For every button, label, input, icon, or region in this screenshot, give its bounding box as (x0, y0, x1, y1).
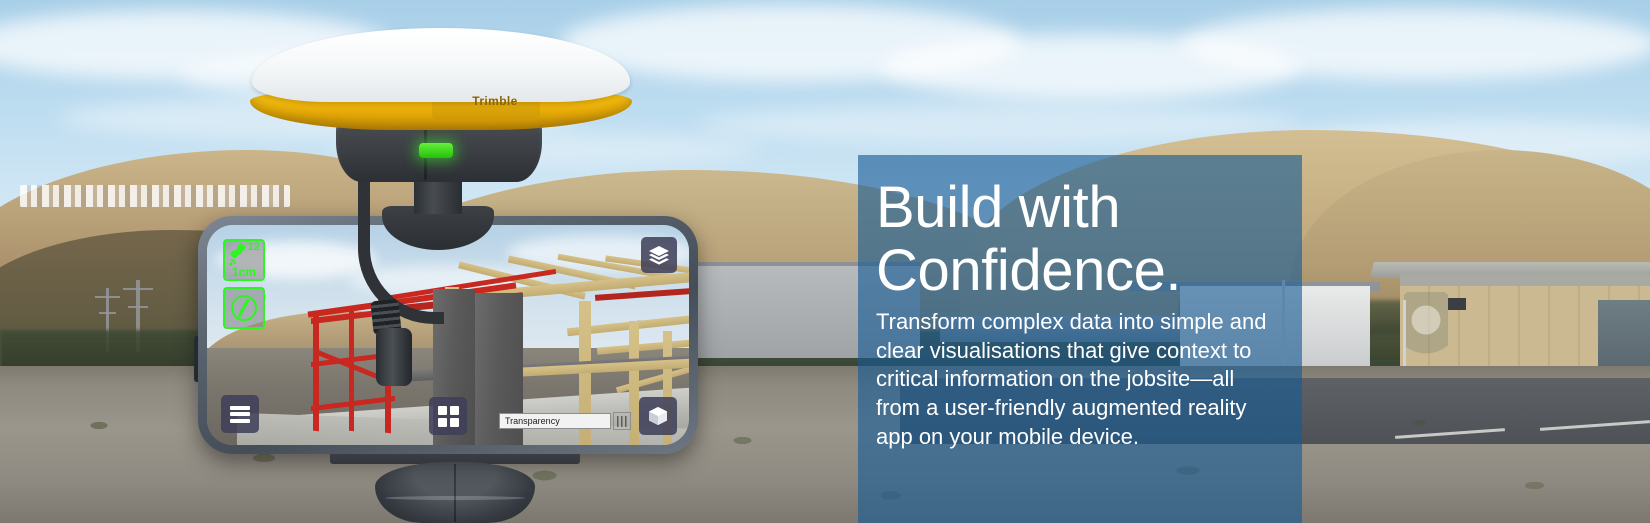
headline-line-1: Build with (876, 175, 1120, 240)
cloud (1180, 8, 1650, 80)
power-pylon-arm (128, 306, 148, 308)
receiver-cable-connector (376, 328, 412, 386)
headline-line-2: Confidence. (876, 238, 1181, 303)
grid-view-button[interactable] (429, 397, 467, 435)
3d-view-button[interactable] (639, 397, 677, 435)
transparency-slider[interactable]: Transparency (499, 413, 631, 429)
hero-banner: 12 1cm (0, 0, 1650, 523)
text-overlay-panel: Build with Confidence. Transform complex… (858, 155, 1302, 523)
status-led (419, 143, 453, 158)
model-red-frame (313, 311, 319, 432)
transparency-slider-track[interactable]: Transparency (499, 413, 611, 429)
power-pylon-arm (123, 288, 153, 290)
compass-indicator[interactable] (223, 287, 265, 329)
trimble-logo: Trimble (436, 94, 554, 108)
receiver-antenna-dome (252, 28, 630, 102)
phone-screen[interactable]: 12 1cm (207, 225, 689, 445)
ridge-houses (20, 185, 290, 207)
power-pylon-arm (95, 296, 120, 298)
hamburger-menu-icon (230, 403, 250, 425)
power-pylon-arm (99, 312, 116, 314)
grid-view-icon (438, 406, 459, 427)
gnss-accuracy: 1cm (225, 266, 263, 279)
model-red-frame (349, 309, 354, 432)
tree (1404, 292, 1448, 362)
gnss-status-indicator[interactable]: 12 1cm (223, 239, 265, 281)
smartphone: 12 1cm (198, 216, 698, 454)
3d-cube-icon (647, 405, 669, 427)
layers-icon (648, 245, 670, 265)
layers-button[interactable] (641, 237, 677, 273)
tripod-seam (454, 464, 456, 522)
model-beam (597, 338, 689, 355)
satellite-count: 12 (248, 241, 260, 253)
menu-button[interactable] (221, 395, 259, 433)
headline: Build with Confidence. (876, 177, 1278, 302)
transparency-slider-handle[interactable] (613, 412, 631, 430)
gnss-receiver: Trimble (236, 28, 646, 158)
body-text: Transform complex data into simple and c… (876, 308, 1278, 451)
wall-lamp (1448, 298, 1466, 310)
transparency-label: Transparency (500, 416, 560, 426)
